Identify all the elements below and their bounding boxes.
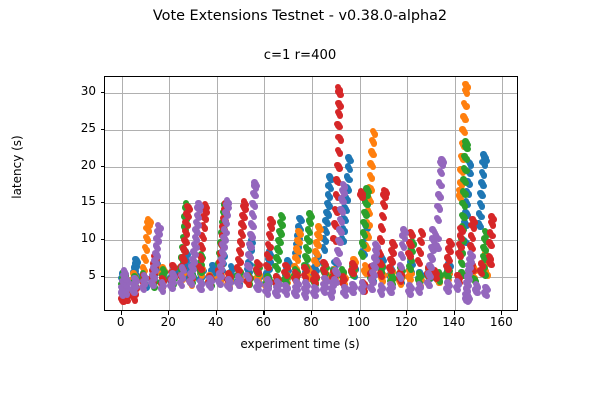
chart-title: Vote Extensions Testnet - v0.38.0-alpha2 (0, 8, 600, 24)
y-tick-mark (101, 129, 105, 130)
x-tick-label: 20 (143, 315, 193, 329)
x-tick-mark (216, 311, 217, 315)
data-point (244, 262, 251, 269)
y-tick-mark (101, 92, 105, 93)
chart-figure: Vote Extensions Testnet - v0.38.0-alpha2… (0, 0, 600, 400)
data-point (482, 284, 489, 291)
data-point (359, 279, 366, 286)
data-point (249, 200, 256, 207)
x-tick-mark (121, 311, 122, 315)
data-point (235, 273, 242, 280)
data-point (302, 279, 309, 286)
data-point (159, 279, 166, 286)
data-point (321, 275, 328, 282)
data-point (221, 226, 228, 233)
data-point (378, 282, 385, 289)
data-point (397, 262, 404, 269)
data-point (387, 281, 394, 288)
data-point (282, 282, 289, 289)
x-tick-label: 160 (476, 315, 526, 329)
y-axis-label: latency (s) (10, 87, 24, 247)
x-tick-label: 140 (429, 315, 479, 329)
x-tick-mark (501, 311, 502, 315)
x-axis-label: experiment time (s) (0, 337, 600, 351)
data-point (333, 257, 340, 264)
data-point (331, 276, 338, 283)
data-point (332, 267, 339, 274)
plot-area (104, 76, 518, 311)
data-point (169, 270, 176, 277)
data-point (465, 292, 472, 299)
x-tick-mark (311, 311, 312, 315)
y-tick-mark (101, 202, 105, 203)
data-point (444, 279, 451, 286)
x-tick-label: 60 (238, 315, 288, 329)
data-point (179, 264, 186, 271)
y-tick-label: 5 (56, 268, 96, 282)
data-point (425, 270, 432, 277)
data-point (337, 206, 344, 213)
data-point (206, 275, 213, 282)
data-point (433, 242, 440, 249)
data-point (245, 251, 252, 258)
data-point (398, 251, 405, 258)
data-point (264, 276, 271, 283)
data-point (247, 231, 254, 238)
chart-subtitle: c=1 r=400 (0, 48, 600, 63)
y-tick-label: 10 (56, 231, 96, 245)
y-tick-mark (101, 239, 105, 240)
data-point (436, 179, 443, 186)
data-point (341, 284, 348, 291)
x-tick-mark (263, 311, 264, 315)
x-tick-label: 0 (96, 315, 146, 329)
x-tick-mark (406, 311, 407, 315)
data-point (123, 276, 130, 283)
data-point (349, 281, 356, 288)
y-tick-mark (101, 276, 105, 277)
data-point (334, 247, 341, 254)
scatter-series (105, 77, 517, 310)
y-tick-label: 15 (56, 194, 96, 208)
data-point (121, 267, 128, 274)
x-tick-mark (454, 311, 455, 315)
data-point (406, 282, 413, 289)
data-point (225, 276, 232, 283)
x-tick-mark (359, 311, 360, 315)
data-point (335, 237, 342, 244)
x-tick-mark (168, 311, 169, 315)
data-point (249, 210, 256, 217)
data-point (435, 191, 442, 198)
x-tick-label: 100 (334, 315, 384, 329)
data-point (438, 156, 445, 163)
x-tick-label: 120 (381, 315, 431, 329)
data-point (251, 179, 258, 186)
data-point (195, 200, 202, 207)
data-point (400, 226, 407, 233)
y-tick-label: 25 (56, 121, 96, 135)
data-point (433, 232, 440, 239)
x-tick-label: 80 (286, 315, 336, 329)
x-tick-label: 40 (191, 315, 241, 329)
y-tick-label: 20 (56, 158, 96, 172)
data-point (131, 275, 138, 282)
y-tick-label: 30 (56, 84, 96, 98)
data-point (424, 279, 431, 286)
y-tick-mark (101, 166, 105, 167)
